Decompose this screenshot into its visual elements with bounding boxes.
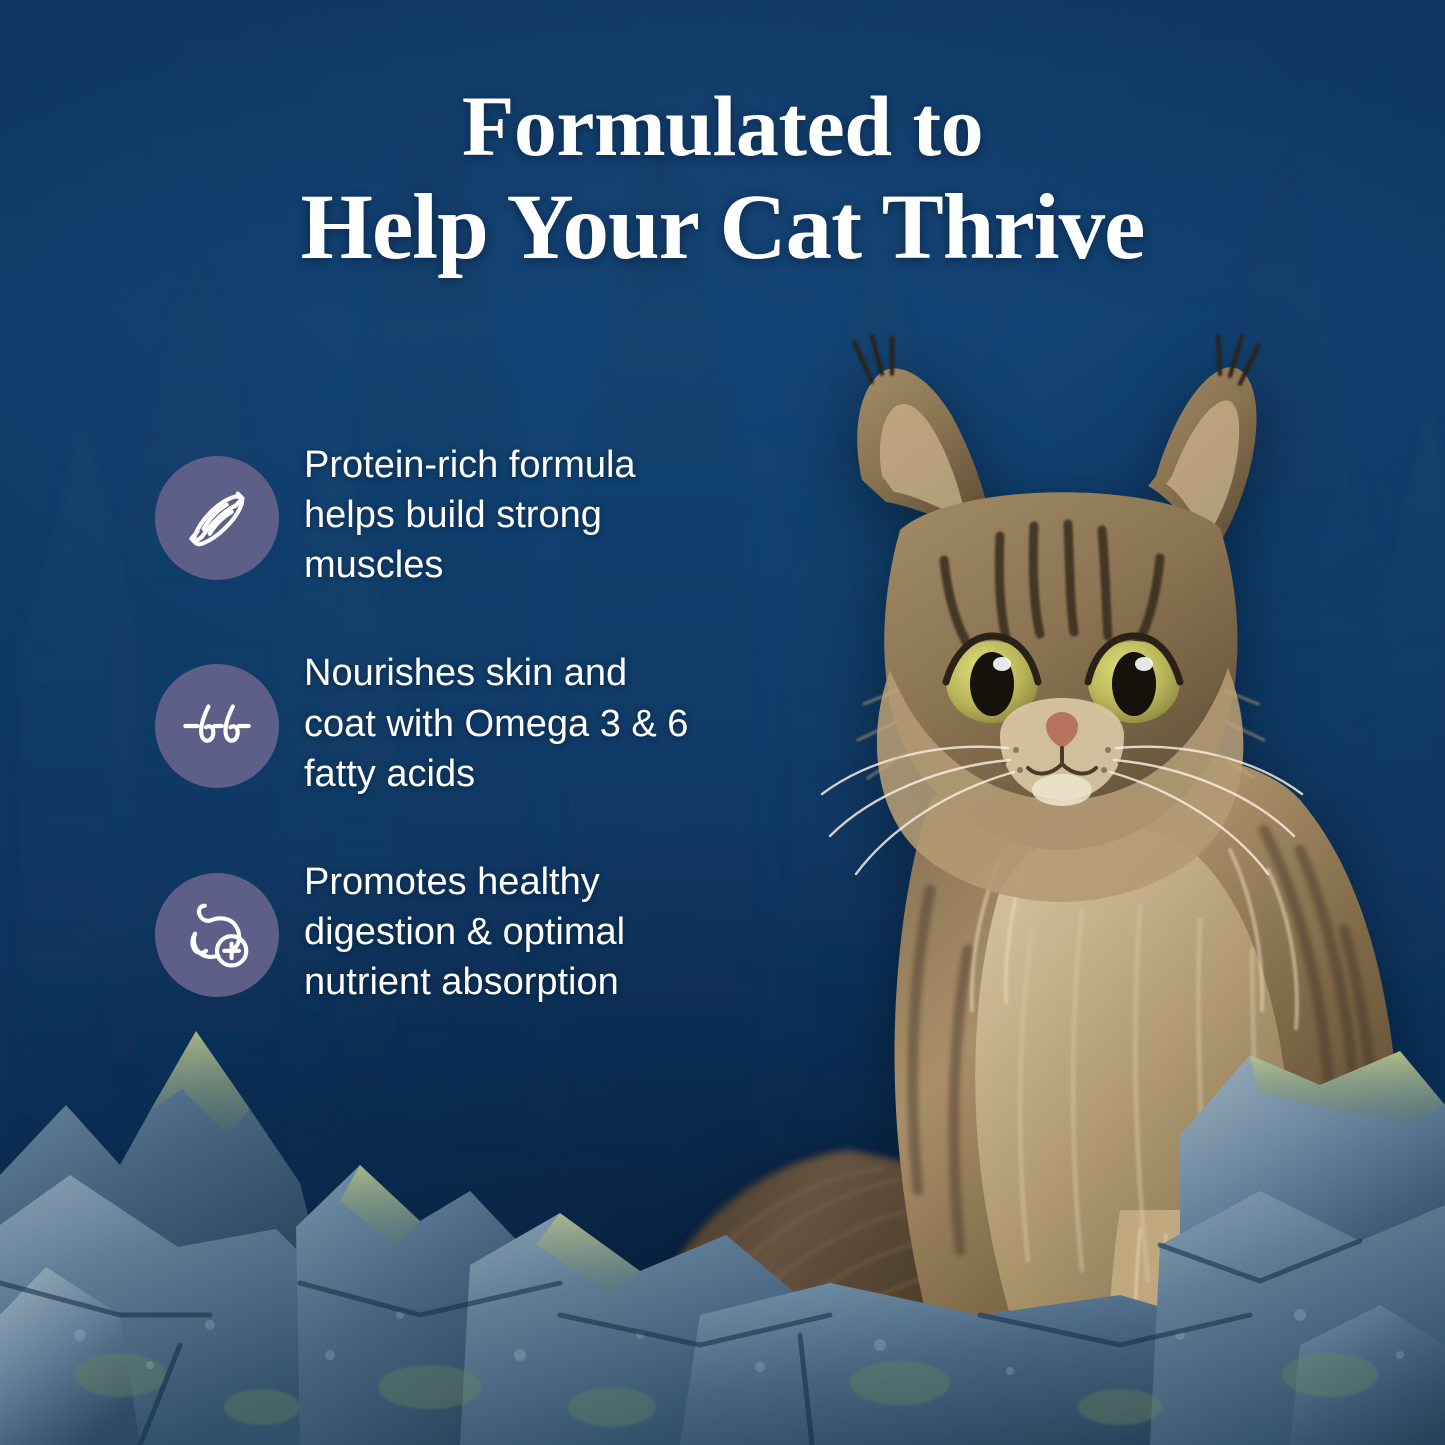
benefit-item-digestion: Promotes healthy digestion & optimal nut… bbox=[155, 849, 755, 1007]
headline-line-2: Help Your Cat Thrive bbox=[0, 175, 1445, 280]
benefit-text-omega: Nourishes skin and coat with Omega 3 & 6… bbox=[304, 640, 704, 798]
benefit-text-protein: Protein-rich formula helps build strong … bbox=[304, 432, 704, 590]
muscle-icon bbox=[155, 456, 279, 580]
benefit-text-digestion: Promotes healthy digestion & optimal nut… bbox=[304, 849, 704, 1007]
marketing-infographic: Formulated to Help Your Cat Thrive Prote… bbox=[0, 0, 1445, 1445]
headline-line-1: Formulated to bbox=[0, 78, 1445, 175]
benefit-item-omega: Nourishes skin and coat with Omega 3 & 6… bbox=[155, 640, 755, 798]
benefit-item-protein: Protein-rich formula helps build strong … bbox=[155, 432, 755, 590]
stomach-plus-icon bbox=[155, 873, 279, 997]
mossy-rock-foreground bbox=[0, 1015, 1445, 1445]
page-title: Formulated to Help Your Cat Thrive bbox=[0, 78, 1445, 280]
benefits-list: Protein-rich formula helps build strong … bbox=[155, 432, 755, 1007]
hair-follicle-icon bbox=[155, 664, 279, 788]
